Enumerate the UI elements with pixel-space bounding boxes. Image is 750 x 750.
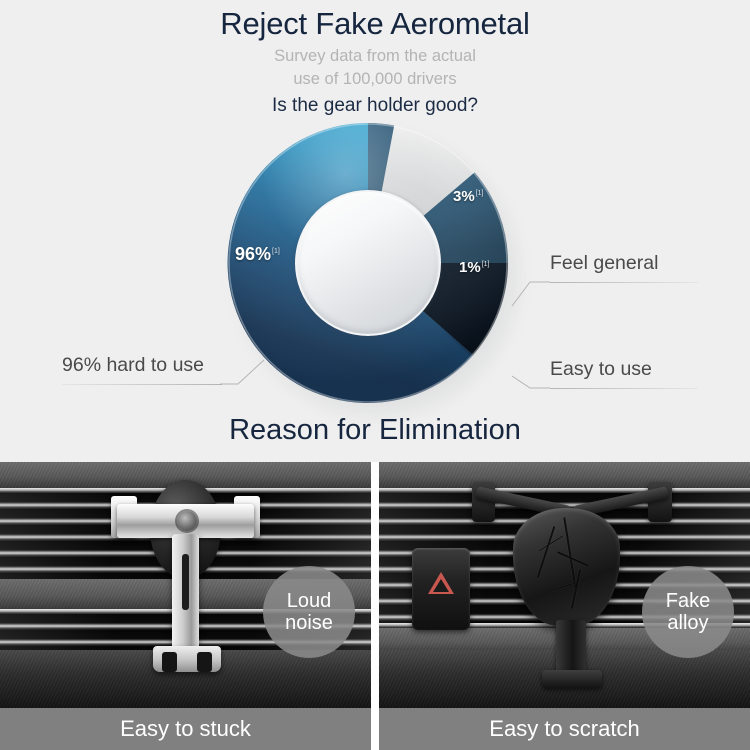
black-phone-holder — [483, 482, 661, 692]
crack-1 — [537, 526, 555, 578]
callout-label-feel-general: Feel general — [550, 252, 658, 275]
value-label-hard-to-use: 96%[1] — [235, 244, 280, 265]
footnote-mark-1: [1] — [482, 261, 490, 268]
header: Reject Fake Aerometal Survey data from t… — [0, 0, 750, 117]
callout-label-hard-to-use: 96% hard to use — [62, 354, 204, 377]
hazard-light-button[interactable] — [412, 548, 470, 630]
badge-line-1: Loud — [287, 590, 332, 612]
value-text-1: 1% — [459, 259, 481, 276]
comparison-panels: Loud noise Easy to stuck — [0, 462, 750, 750]
badge-line-2: noise — [285, 612, 333, 634]
panel-easy-to-stuck[interactable]: Loud noise Easy to stuck — [0, 462, 371, 750]
callout-leader-easy-to-use — [508, 374, 550, 406]
crack-3 — [557, 551, 589, 566]
callout-leader-feel-general — [510, 276, 550, 316]
donut-chart-area: 96%[1] 3%[1] 1%[1] 96% hard to use Feel … — [0, 118, 750, 408]
callout-underline-hard-to-use — [62, 384, 222, 385]
callout-underline-easy-to-use — [550, 388, 698, 389]
value-label-feel-general: 3%[1] — [453, 188, 483, 205]
footnote-mark-96: [1] — [272, 248, 280, 255]
subtitle-line-1: Survey data from the actual — [0, 47, 750, 66]
value-label-easy-to-use: 1%[1] — [459, 259, 489, 276]
badge-loud-noise: Loud noise — [263, 566, 355, 658]
footnote-mark-3: [1] — [476, 190, 484, 197]
holder-slot — [182, 554, 189, 610]
page-title: Reject Fake Aerometal — [0, 0, 750, 43]
section-title: Reason for Elimination — [0, 414, 750, 447]
holder-gear — [177, 511, 197, 531]
badge-fake-alloy: Fake alloy — [642, 566, 734, 658]
holder-y-body — [513, 508, 620, 626]
subtitle-line-2: use of 100,000 drivers — [0, 70, 750, 89]
holder-neck — [556, 620, 586, 676]
photo-silver-holder: Loud noise — [0, 462, 371, 708]
value-text-96: 96% — [235, 244, 271, 264]
page-root: Reject Fake Aerometal Survey data from t… — [0, 0, 750, 750]
holder-foot-cradle — [153, 646, 221, 672]
photo-black-holder: Fake alloy — [379, 462, 750, 708]
donut-hub — [295, 190, 441, 336]
crack-6 — [552, 583, 575, 591]
value-text-3: 3% — [453, 188, 475, 205]
panel-easy-to-scratch[interactable]: Fake alloy Easy to scratch — [379, 462, 750, 750]
badge-line-1-r: Fake — [666, 590, 710, 612]
silver-phone-holder — [111, 478, 259, 694]
callout-underline-feel-general — [550, 282, 698, 283]
badge-line-2-r: alloy — [667, 612, 708, 634]
caption-easy-to-scratch: Easy to scratch — [379, 708, 750, 750]
caption-easy-to-stuck: Easy to stuck — [0, 708, 371, 750]
hazard-triangle-icon — [428, 572, 454, 594]
callout-label-easy-to-use: Easy to use — [550, 358, 652, 381]
holder-base — [542, 670, 603, 688]
survey-question: Is the gear holder good? — [0, 95, 750, 117]
callout-leader-hard-to-use — [220, 356, 270, 390]
